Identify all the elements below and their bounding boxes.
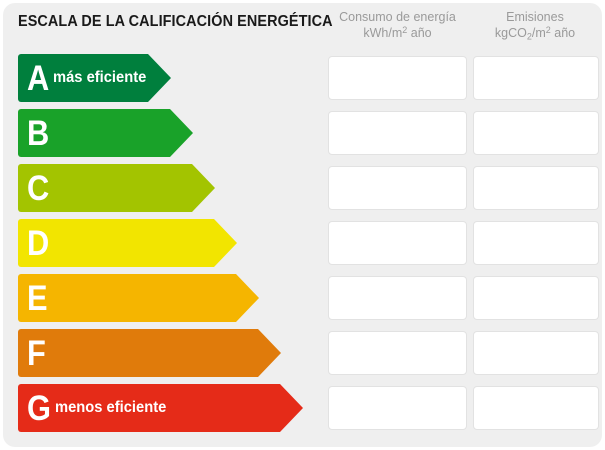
emisiones-box-d[interactable] [473,221,599,265]
column-header-consumo-line1: Consumo de energía [339,10,456,24]
rating-band-f[interactable]: F [18,329,258,377]
band-letter-e: E [27,281,48,316]
band-arrow-tip [214,219,237,267]
column-header-emisiones: Emisiones kgCO2/m2 año [471,10,599,41]
rating-band-g[interactable]: Gmenos eficiente [18,384,280,432]
band-arrow-tip [258,329,281,377]
emisiones-box-g[interactable] [473,386,599,430]
band-text: C [27,164,52,212]
label-header: ESCALA DE LA CALIFICACIÓN ENERGÉTICA Con… [3,3,602,50]
rating-row-g: Gmenos eficiente [3,384,602,432]
energy-rating-label-panel: ESCALA DE LA CALIFICACIÓN ENERGÉTICA Con… [3,3,602,447]
emisiones-box-c[interactable] [473,166,599,210]
band-text: E [27,274,50,322]
band-body [18,329,258,377]
rating-row-f: F [3,329,602,377]
consumo-box-d[interactable] [328,221,467,265]
emisiones-box-b[interactable] [473,111,599,155]
band-letter-a: A [27,61,49,96]
band-letter-b: B [27,116,49,151]
band-letter-c: C [27,171,49,206]
rating-band-d[interactable]: D [18,219,214,267]
band-letter-f: F [27,336,46,371]
consumo-box-f[interactable] [328,331,467,375]
consumo-box-g[interactable] [328,386,467,430]
band-letter-g: G [27,391,51,426]
emisiones-box-f[interactable] [473,331,599,375]
rating-row-c: C [3,164,602,212]
band-text: Gmenos eficiente [27,384,172,432]
column-header-consumo: Consumo de energía kWh/m2 año [326,10,469,41]
band-arrow-tip [236,274,259,322]
band-text: D [27,219,52,267]
consumo-box-c[interactable] [328,166,467,210]
band-text: Amás eficiente [27,54,152,102]
rating-band-c[interactable]: C [18,164,192,212]
band-arrow-tip [170,109,193,157]
band-arrow-tip [192,164,215,212]
rating-row-b: B [3,109,602,157]
band-caption-g: menos eficiente [55,400,166,416]
emisiones-box-a[interactable] [473,56,599,100]
column-header-consumo-line2: kWh/m2 año [326,26,469,42]
rating-row-d: D [3,219,602,267]
emisiones-box-e[interactable] [473,276,599,320]
consumo-box-a[interactable] [328,56,467,100]
rating-band-e[interactable]: E [18,274,236,322]
band-letter-d: D [27,226,49,261]
consumo-box-e[interactable] [328,276,467,320]
band-caption-a: más eficiente [53,70,146,86]
rating-row-a: Amás eficiente [3,54,602,102]
rating-band-b[interactable]: B [18,109,170,157]
rating-row-e: E [3,274,602,322]
rating-band-a[interactable]: Amás eficiente [18,54,148,102]
page-title: ESCALA DE LA CALIFICACIÓN ENERGÉTICA [18,13,333,31]
band-arrow-tip [280,384,303,432]
column-header-emisiones-line2: kgCO2/m2 año [471,26,599,42]
consumo-box-b[interactable] [328,111,467,155]
band-body [18,274,236,322]
band-text: F [27,329,48,377]
column-header-emisiones-line1: Emisiones [506,10,564,24]
band-text: B [27,109,52,157]
